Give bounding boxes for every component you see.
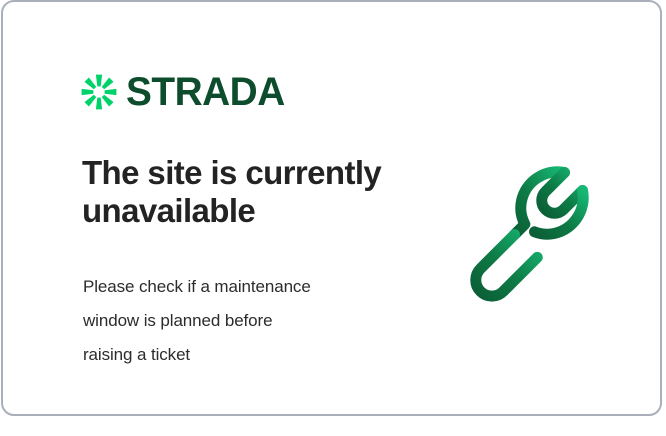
status-card: STRADA The site is currently unavailable… (1, 0, 662, 416)
wrench-icon (461, 159, 613, 311)
description-line-2: window is planned before (83, 304, 413, 338)
error-page: STRADA The site is currently unavailable… (0, 0, 666, 436)
page-description: Please check if a maintenance window is … (83, 270, 413, 372)
page-title: The site is currently unavailable (82, 154, 412, 231)
description-line-1: Please check if a maintenance (83, 270, 413, 304)
description-line-3: raising a ticket (83, 338, 413, 372)
brand-wordmark: STRADA (126, 72, 285, 112)
brand-logo[interactable]: STRADA (81, 72, 290, 112)
strada-asterisk-icon (81, 74, 117, 110)
